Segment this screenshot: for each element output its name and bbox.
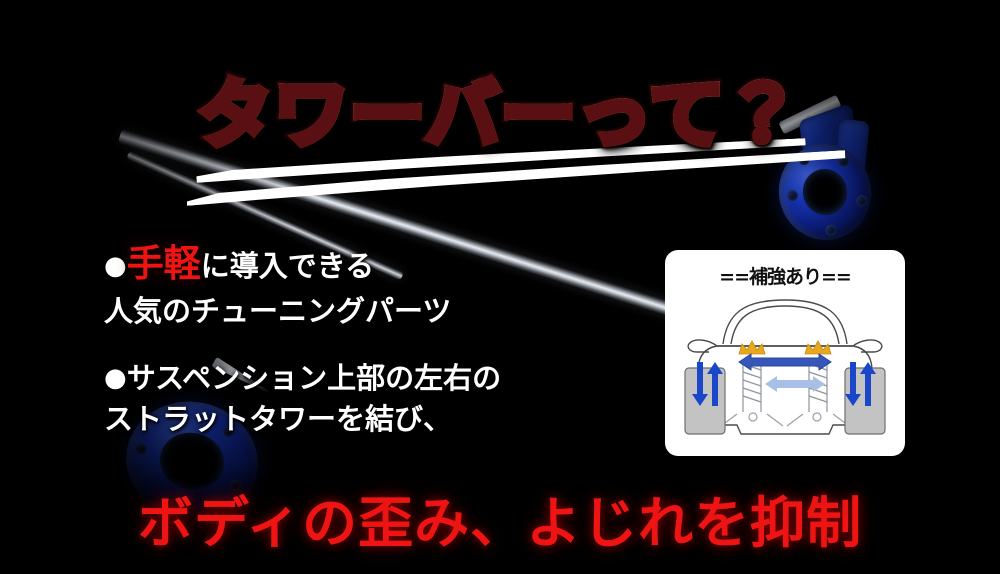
bullet-2-line-2: ストラットタワーを結び、	[104, 399, 664, 440]
bullet-1-line-1: ●手軽に導入できる	[104, 238, 664, 291]
ring-bolt-hole	[786, 189, 799, 202]
spread-arrow	[765, 376, 825, 392]
bullet-dot-icon: ●	[104, 363, 127, 393]
reinforcement-diagram-panel: ==補強あり==	[665, 250, 905, 456]
bullet-1-line-2: 人気のチューニングパーツ	[104, 291, 664, 332]
bullet-block-1: ●手軽に導入できる 人気のチューニングパーツ	[104, 238, 664, 332]
car-front-diagram	[665, 284, 905, 456]
bullet-1-highlight: 手軽	[127, 242, 201, 285]
ring-bolt-hole	[855, 194, 868, 207]
bullet-1-line-1-rest: に導入できる	[201, 249, 374, 283]
suspension-struts	[721, 360, 849, 426]
bullet-2-line-1: ●サスペンション上部の左右の	[104, 358, 664, 399]
infographic-canvas: タワーバーって？ タワーバーって？ ●手軽に導入できる 人気のチューニングパーツ…	[0, 0, 1000, 574]
bullet-block-2: ●サスペンション上部の左右の ストラットタワーを結び、	[104, 358, 664, 440]
page-title: タワーバーって？	[0, 78, 1000, 152]
strut-mount-crown-icon	[739, 341, 831, 354]
bottom-headline: ボディの歪み、よじれを抑制	[0, 478, 1000, 558]
body-copy: ●手軽に導入できる 人気のチューニングパーツ ●サスペンション上部の左右の スト…	[104, 238, 664, 440]
ring-bolt-hole	[134, 442, 147, 455]
bullet-dot-icon: ●	[104, 251, 127, 281]
ring-bolt-hole	[824, 223, 837, 236]
bullet-2-line-1-text: サスペンション上部の左右の	[127, 361, 501, 395]
